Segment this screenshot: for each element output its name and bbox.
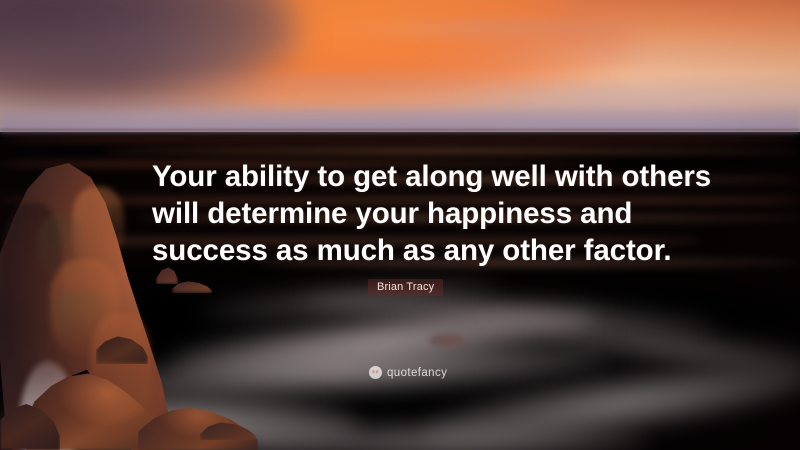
quote-mark-icon — [369, 366, 382, 379]
author-attribution: Brian Tracy — [368, 277, 443, 296]
water-streak — [0, 136, 800, 143]
offshore-rock — [430, 334, 464, 346]
cloud-wisp — [420, 44, 800, 60]
quote-text: Your ability to get along well with othe… — [152, 158, 672, 269]
quote-line-2: will determine your happiness and — [152, 195, 672, 232]
quote-wallpaper: Your ability to get along well with othe… — [0, 0, 800, 450]
quote-line-3: success as much as any other factor. — [152, 232, 672, 269]
rock-moss — [54, 291, 106, 339]
author-name: Brian Tracy — [368, 279, 443, 296]
cloud-wisp — [430, 86, 800, 102]
quotefancy-watermark: quotefancy — [369, 366, 447, 379]
cloud-wisp — [330, 18, 660, 40]
cloud-wisp — [560, 64, 800, 78]
watermark-brand: quotefancy — [387, 367, 447, 379]
water-streak — [100, 148, 800, 154]
rock-moss — [38, 215, 82, 275]
quote-line-1: Your ability to get along well with othe… — [152, 158, 672, 195]
